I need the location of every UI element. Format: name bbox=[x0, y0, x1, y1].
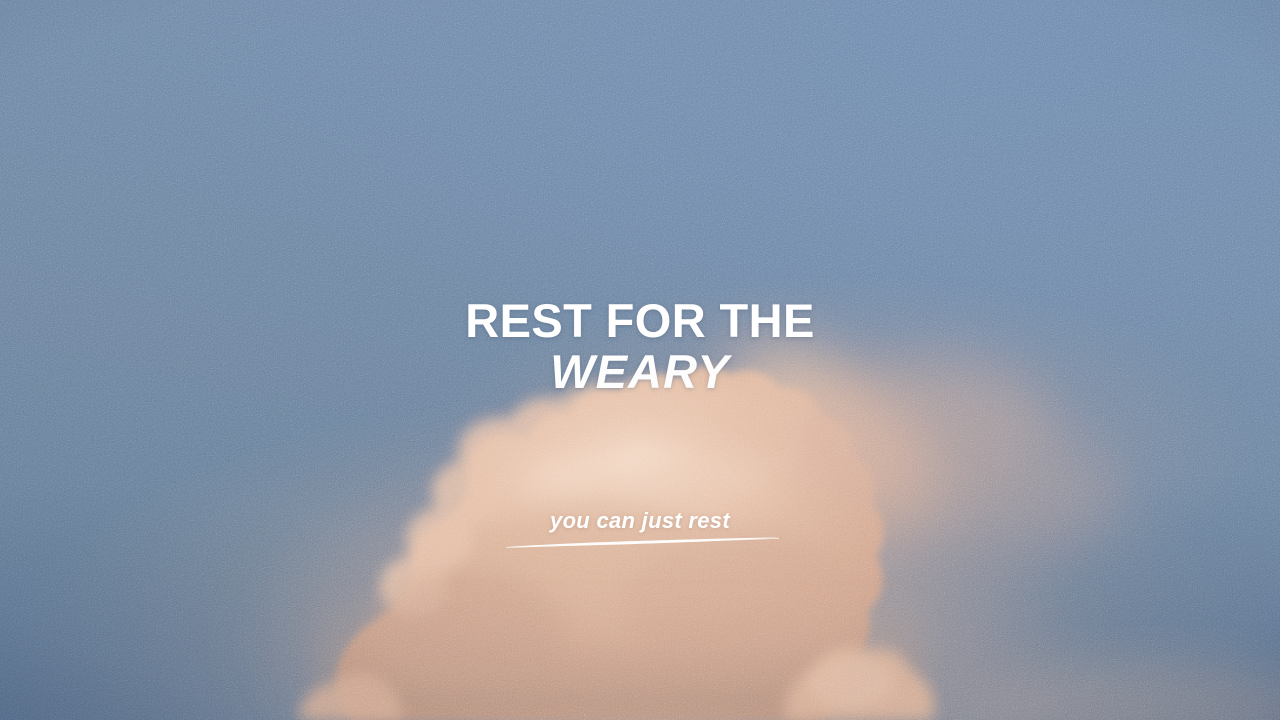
poster-canvas: REST FOR THE WEARY you can just rest bbox=[0, 0, 1280, 720]
cloud-formation bbox=[0, 0, 1280, 720]
